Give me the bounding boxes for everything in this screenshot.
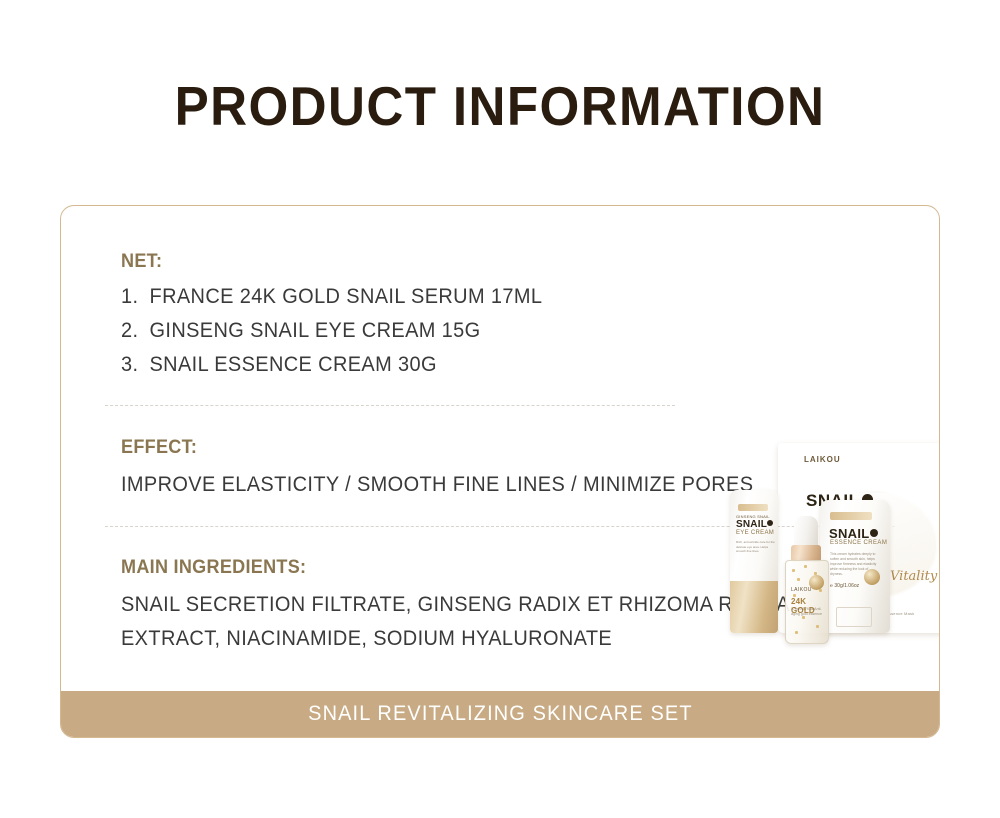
page-title: PRODUCT INFORMATION — [35, 74, 965, 138]
serum-description: 17ml/0.57fl.oz Anti-aging gold essence — [791, 607, 828, 617]
net-item-text: SNAIL ESSENCE CREAM 30G — [150, 353, 437, 376]
net-list-item: 3.SNAIL ESSENCE CREAM 30G — [121, 353, 437, 377]
card-body: NET: 1.FRANCE 24K GOLD SNAIL SERUM 17ML … — [61, 206, 939, 692]
eye-tube-product-text: SNAIL — [736, 519, 767, 530]
cream-tube-product-label: SNAIL — [829, 526, 878, 541]
tube-gold-cap — [730, 581, 778, 633]
serum-glass-body: LAIKOU 24K GOLD 17ml/0.57fl.oz Anti-agin… — [785, 560, 829, 644]
net-heading: NET: — [121, 251, 162, 273]
section-divider — [105, 405, 675, 406]
product-information-card: NET: 1.FRANCE 24K GOLD SNAIL SERUM 17ML … — [60, 205, 940, 738]
net-item-number: 2. — [121, 319, 150, 343]
snail-shell-icon — [767, 520, 773, 526]
sachet-brand-label: LAIKOU — [804, 455, 841, 464]
effect-heading: EFFECT: — [121, 437, 197, 459]
tube-seal-strip — [738, 504, 768, 511]
ingredients-heading: MAIN INGREDIENTS: — [121, 557, 306, 579]
banner-text: SNAIL REVITALIZING SKINCARE SET — [308, 702, 693, 726]
cream-tube-subtitle: ESSENCE CREAM — [830, 540, 887, 546]
gold-medallion-icon — [864, 569, 880, 585]
sachet-script-label: Vitality — [890, 569, 937, 584]
net-list-item: 1.FRANCE 24K GOLD SNAIL SERUM 17ML — [121, 285, 542, 309]
cream-tube-volume: ℮ 30g/1.06oz — [830, 583, 859, 589]
gold-flake-decoration — [797, 578, 800, 581]
eye-tube-subtitle: EYE CREAM — [736, 530, 774, 536]
net-item-number: 3. — [121, 353, 150, 377]
sachet-hang-hole — [870, 452, 881, 463]
tube-bottom-box — [836, 607, 872, 627]
sachet-micro-text: Essence Mask — [886, 611, 914, 616]
ingredients-line: EXTRACT, NIACINAMIDE, SODIUM HYALURONATE — [121, 627, 612, 651]
ingredients-line: SNAIL SECRETION FILTRATE, GINSENG RADIX … — [121, 593, 790, 617]
net-item-text: GINSENG SNAIL EYE CREAM 15G — [150, 319, 481, 342]
net-item-number: 1. — [121, 285, 150, 309]
gold-flake-decoration — [804, 565, 807, 568]
gold-flake-decoration — [819, 589, 822, 592]
dropper-bulb — [794, 516, 818, 548]
net-item-text: FRANCE 24K GOLD SNAIL SERUM 17ML — [150, 285, 543, 308]
gold-flake-decoration — [792, 569, 795, 572]
tube-seal-strip — [830, 512, 872, 520]
effect-text: IMPROVE ELASTICITY / SMOOTH FINE LINES /… — [121, 473, 753, 497]
product-photo: LAIKOU SNAIL GOLD SNAIL MASK Vitality Es… — [728, 438, 940, 653]
cream-tube-product-text: SNAIL — [829, 526, 870, 541]
gold-flake-decoration — [816, 625, 819, 628]
snail-shell-icon — [870, 529, 878, 537]
product-set-banner: SNAIL REVITALIZING SKINCARE SET — [61, 691, 939, 737]
serum-brand-label: LAIKOU — [791, 587, 812, 593]
eye-tube-description: Rich, anti-wrinkle care for the delicate… — [736, 540, 778, 554]
gold-flake-decoration — [795, 631, 798, 634]
net-list-item: 2.GINSENG SNAIL EYE CREAM 15G — [121, 319, 481, 343]
gold-snail-serum-bottle-image: LAIKOU 24K GOLD 17ml/0.57fl.oz Anti-agin… — [781, 516, 831, 642]
snail-eye-cream-tube-image: GINSENG SNAIL SNAIL EYE CREAM Rich, anti… — [730, 490, 778, 633]
eye-tube-product-label: SNAIL — [736, 519, 773, 530]
